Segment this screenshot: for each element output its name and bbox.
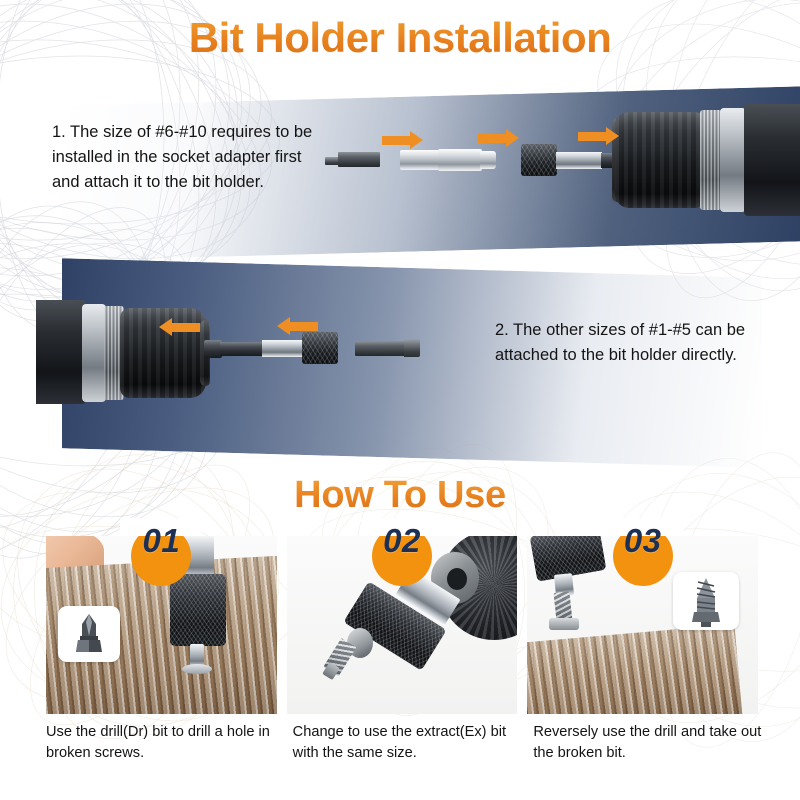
driver-bit-shank-2 (355, 341, 407, 356)
socket-adapter-front (400, 150, 440, 170)
bit-holder-knurled-collar (521, 144, 557, 176)
step-3-badge-mask (602, 518, 684, 536)
step-1-caption: Use the drill(Dr) bit to drill a hole in… (46, 722, 277, 764)
screw-head-washer (182, 664, 212, 674)
chuck-nose-body (615, 112, 705, 208)
howto-title-text: How To Use (294, 474, 506, 517)
broken-screw-head (549, 618, 579, 630)
arrow-left-icon-2 (288, 322, 318, 331)
driver-bit-tip-2 (404, 339, 420, 357)
drill-bit-inset (58, 606, 120, 662)
steps-row: 01 Use the drill(Dr) bit to drill a hole… (46, 536, 758, 776)
arrow-right-icon-2 (478, 134, 508, 143)
extractor-bit-inset (673, 572, 739, 630)
step-2-badge-mask (361, 518, 443, 536)
instruction-1-text: 1. The size of #6-#10 requires to be ins… (52, 120, 317, 195)
step-3-caption: Reversely use the drill and take out the… (533, 722, 764, 764)
bit-holder-shaft-silver (556, 152, 602, 169)
step-card-2: 02 Change to use the extract(Ex) bit wit… (287, 536, 518, 776)
extractor-bit-closeup-icon (673, 572, 739, 630)
step-1-badge-mask (120, 518, 202, 536)
bit-holder-knurled-body-vertical (170, 574, 226, 646)
chuck-ring-knurl (700, 110, 722, 210)
driver-bit-tip (325, 157, 339, 165)
step-card-3: 03 Reversely use the drill and take out … (527, 536, 758, 776)
driver-bit-shank (338, 152, 380, 167)
infographic-page: Bit Holder Installation 1. The size of #… (0, 0, 800, 800)
page-title: Bit Holder Installation (0, 14, 800, 62)
page-title-text: Bit Holder Installation (189, 14, 612, 62)
chuck-collar (720, 108, 746, 212)
instruction-2-text: 2. The other sizes of #1-#5 can be attac… (495, 318, 760, 368)
step-card-1: 01 Use the drill(Dr) bit to drill a hole… (46, 536, 277, 776)
bit-holder-knurled-collar-2 (302, 332, 338, 364)
arrow-right-icon-1 (382, 136, 412, 145)
socket-adapter-end (480, 151, 496, 169)
bit-holder-shaft-dark-2 (220, 342, 264, 356)
step-3-photo (527, 536, 758, 714)
chuck-bore (447, 568, 467, 590)
chuck-rear-body (744, 104, 800, 216)
chuck-collar-2 (82, 304, 106, 402)
arrow-right-icon-3 (578, 132, 608, 141)
step-2-caption: Change to use the extract(Ex) bit with t… (293, 722, 524, 764)
socket-adapter-body (438, 149, 482, 171)
arrow-left-icon-1 (170, 323, 200, 332)
chuck-rear-body-2 (36, 300, 86, 404)
step-2-scene (287, 536, 518, 714)
howto-section-title: How To Use (0, 474, 800, 517)
drill-bit-closeup-icon (58, 606, 120, 662)
bit-holder-shaft-silver-2 (262, 340, 306, 357)
step-1-photo (46, 536, 277, 714)
step-2-photo (287, 536, 518, 714)
